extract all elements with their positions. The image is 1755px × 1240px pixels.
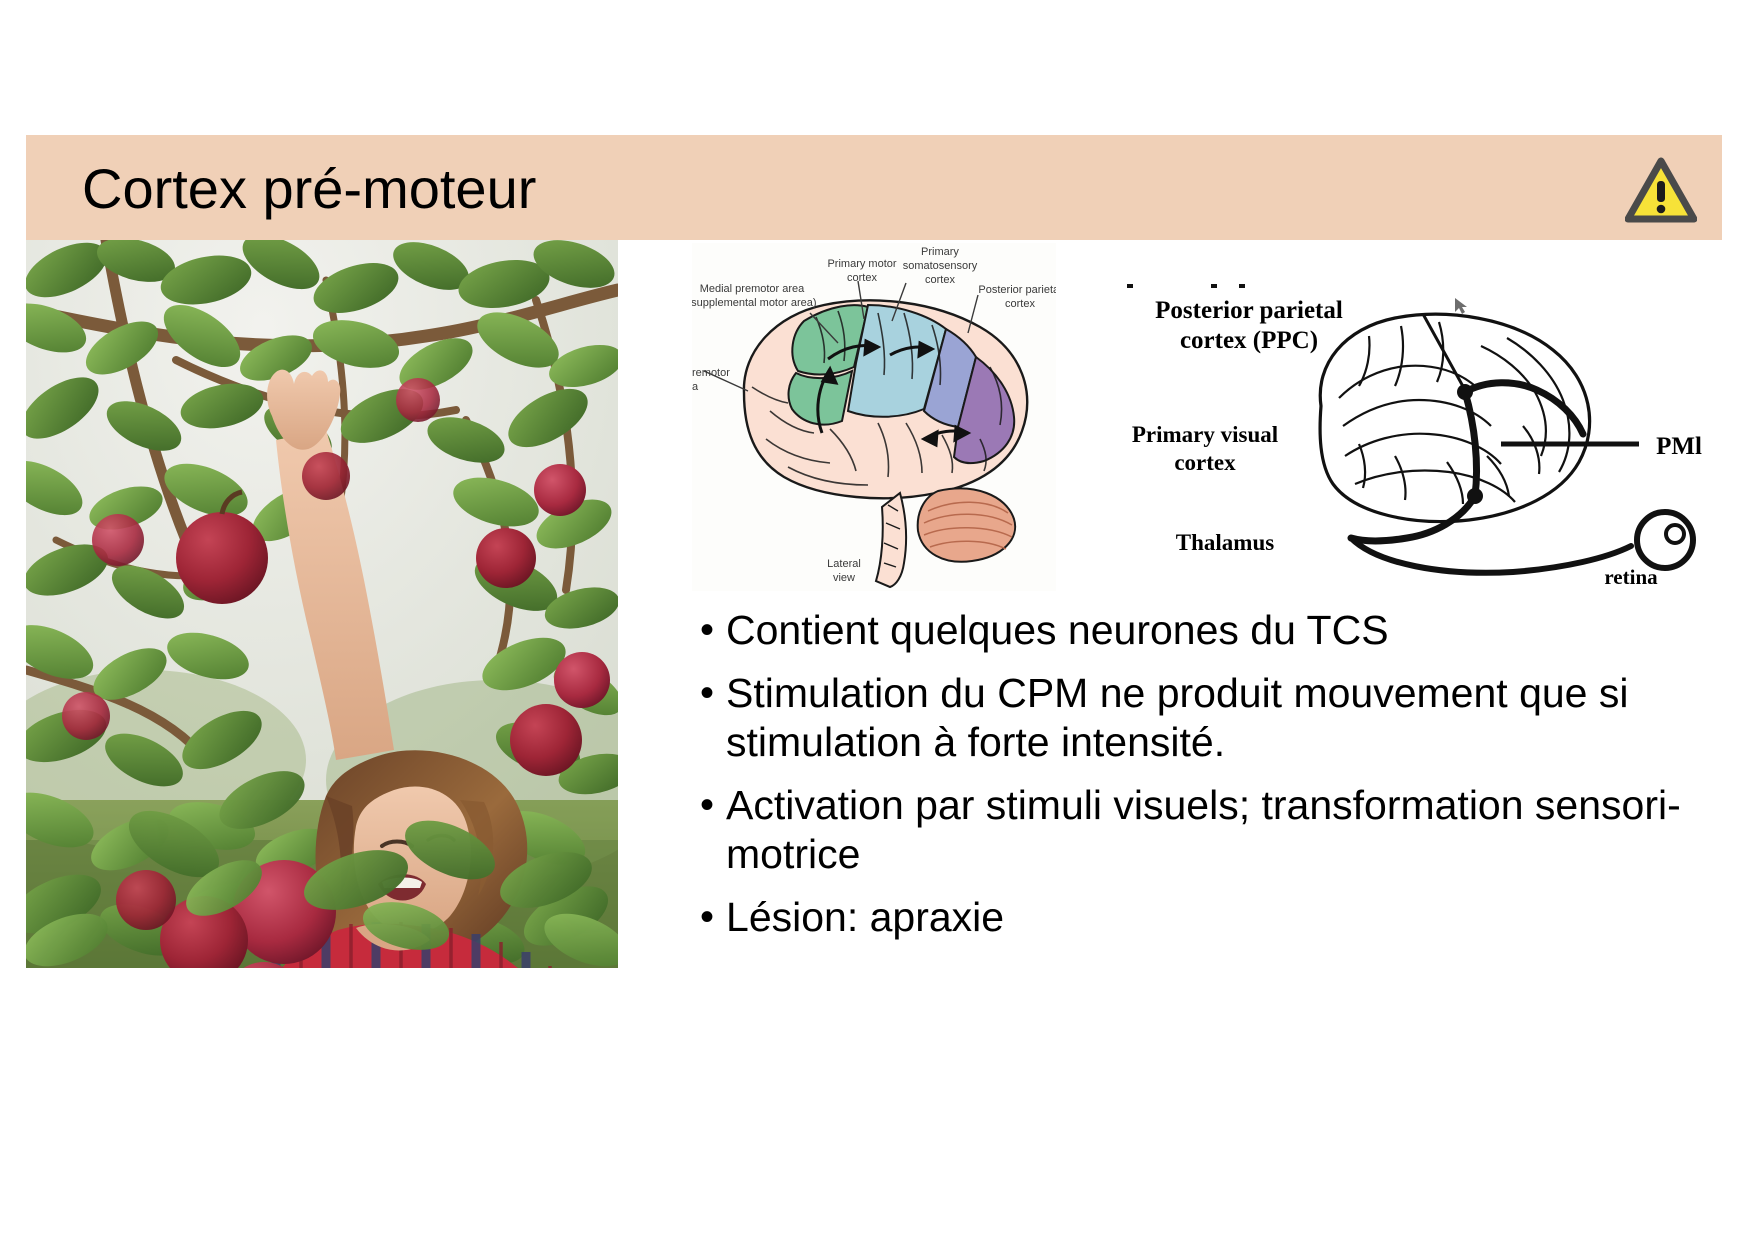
bullet-text: Stimulation du CPM ne produit mouvement … [726,669,1720,767]
fig1-label-somatosensory: somatosensory [903,260,978,272]
fig2-label-ppc-line1: Posterior parietal [1155,297,1343,324]
apple-picking-photo [26,240,618,968]
bullet-marker: • [700,606,714,655]
bullet-marker: • [700,781,714,830]
fig1-label-area-clipped: a [692,381,699,393]
bullet-marker: • [700,669,714,718]
fig1-label-supplemental: (supplemental motor area) [692,297,817,309]
fig2-label-visual-cortex-line2: cortex [1174,450,1236,475]
slide: Cortex pré-moteur [0,0,1755,1240]
list-item: • Contient quelques neurones du TCS [700,606,1720,655]
brain-diagram-cortical-areas: Medial premotor area (supplemental motor… [692,243,1056,591]
bullet-text: Activation par stimuli visuels; transfor… [726,781,1720,879]
fig1-label-primary-motor: Primary motor [827,258,896,270]
fig1-label-premotor-clipped: remotor [692,367,730,379]
fig1-label-primary: Primary [921,246,959,258]
fig1-label-posterior-parietal-cortex: cortex [1005,298,1035,310]
fig1-caption-view: view [833,572,855,584]
list-item: • Stimulation du CPM ne produit mouvemen… [700,669,1720,767]
fig1-label-primary-motor-cortex: cortex [847,272,877,284]
fig2-label-retina: retina [1604,565,1658,589]
fig1-label-somatosensory-cortex: cortex [925,274,955,286]
fig2-label-pml: PMl [1656,433,1702,460]
fig1-caption-lateral: Lateral [827,558,861,570]
fig2-label-ppc-line2: cortex (PPC) [1180,327,1318,354]
fig1-label-posterior-parietal: Posterior parietal [978,284,1056,296]
brain-diagram-visual-pathway: Posterior parietal cortex (PPC) Primary … [1083,276,1721,592]
warning-triangle-icon [1625,157,1697,223]
bullet-marker: • [700,893,714,942]
list-item: • Activation par stimuli visuels; transf… [700,781,1720,879]
fig2-label-thalamus: Thalamus [1176,530,1274,555]
list-item: • Lésion: apraxie [700,893,1720,942]
page-title: Cortex pré-moteur [82,157,536,221]
fig1-label-medial-premotor: Medial premotor area [700,283,805,295]
bullet-text: Lésion: apraxie [726,893,1004,942]
fig2-label-visual-cortex-line1: Primary visual [1132,422,1278,447]
bullet-list: • Contient quelques neurones du TCS • St… [700,606,1720,956]
bullet-text: Contient quelques neurones du TCS [726,606,1389,655]
